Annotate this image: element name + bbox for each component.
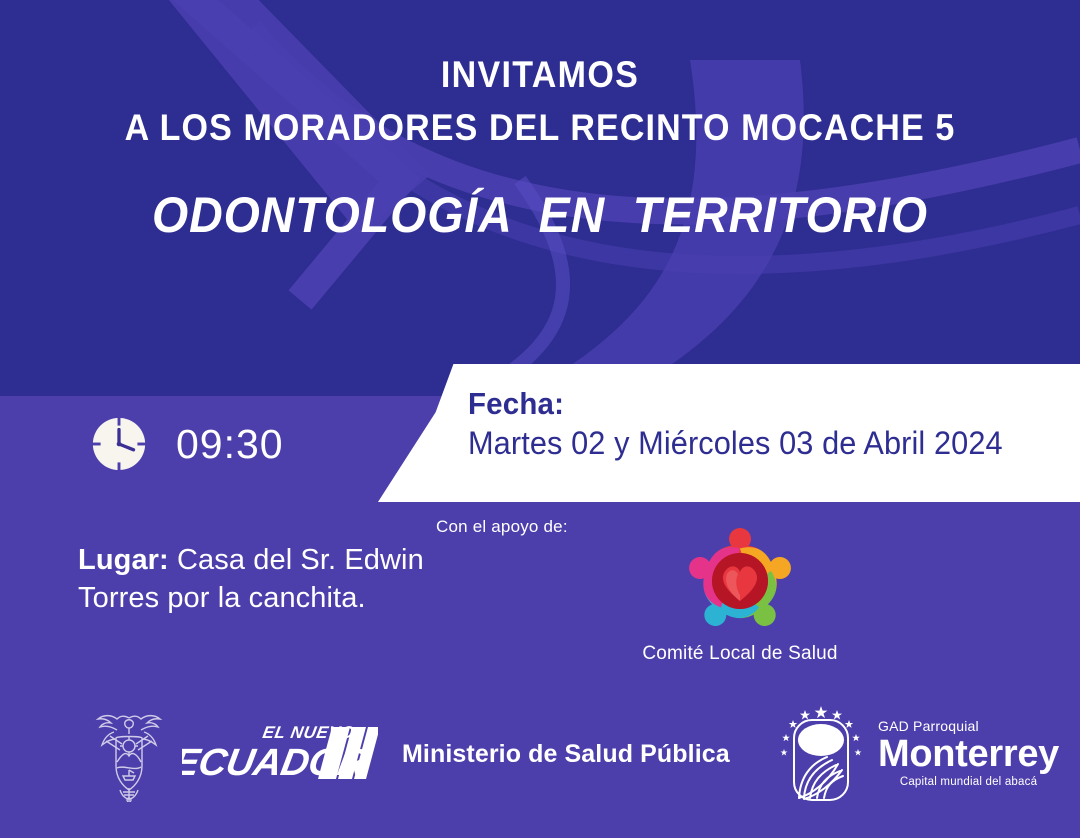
monterrey-tagline: Capital mundial del abacá <box>878 777 1059 789</box>
poster-canvas: INVITAMOS A LOS MORADORES DEL RECINTO MO… <box>0 0 1080 838</box>
monterrey-label: Monterrey <box>878 735 1059 773</box>
headline-line-2: A LOS MORADORES DEL RECINTO MOCACHE 5 <box>43 109 1037 146</box>
headline-line-1: INVITAMOS <box>43 56 1037 93</box>
el-nuevo-ecuador-wordmark: EL NUEVO ECUADOR <box>182 715 378 794</box>
event-title: ODONTOLOGÍA EN TERRITORIO <box>38 190 1042 240</box>
ecuador-coat-of-arms-icon <box>90 706 168 802</box>
time-row: 09:30 <box>88 413 284 475</box>
place-block: Lugar: Casa del Sr. Edwin Torres por la … <box>78 541 498 618</box>
comite-local-de-salud-block: Comité Local de Salud <box>595 525 885 665</box>
date-banner-content: Fecha: Martes 02 y Miércoles 03 de Abril… <box>468 388 1025 461</box>
gad-monterrey-logo-block: GAD Parroquial Monterrey Capital mundial… <box>772 702 1059 806</box>
date-value: Martes 02 y Miércoles 03 de Abril 2024 <box>468 425 1003 462</box>
headline-block: INVITAMOS A LOS MORADORES DEL RECINTO MO… <box>0 56 1080 240</box>
time-value: 09:30 <box>176 424 284 465</box>
ministry-of-health-logo-block: EL NUEVO ECUADOR Ministerio de Salud Púb… <box>90 706 730 802</box>
ministry-name: Ministerio de Salud Pública <box>402 740 730 769</box>
monterrey-emblem-icon <box>772 702 870 806</box>
support-label: Con el apoyo de: <box>436 517 568 537</box>
footer-logos: EL NUEVO ECUADOR Ministerio de Salud Púb… <box>0 690 1080 838</box>
place-label: Lugar: <box>78 544 169 576</box>
gad-monterrey-text: GAD Parroquial Monterrey Capital mundial… <box>878 719 1059 789</box>
date-banner: Fecha: Martes 02 y Miércoles 03 de Abril… <box>368 364 1080 502</box>
comite-local-de-salud-logo-icon <box>595 525 885 637</box>
clock-icon <box>88 413 150 475</box>
comite-local-de-salud-label: Comité Local de Salud <box>595 643 885 665</box>
gad-parroquial-label: GAD Parroquial <box>878 719 1059 733</box>
date-label: Fecha: <box>468 388 997 421</box>
